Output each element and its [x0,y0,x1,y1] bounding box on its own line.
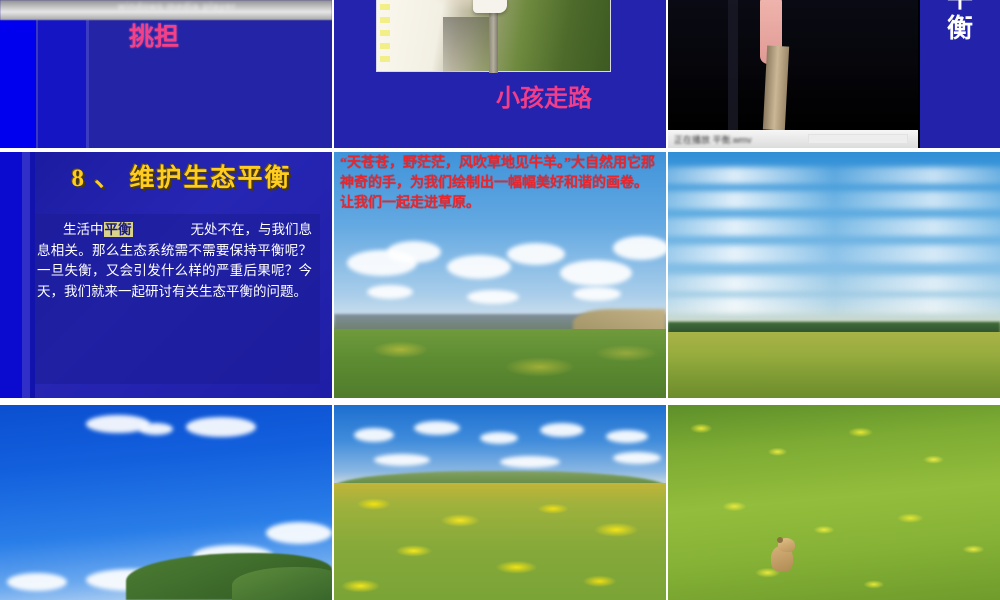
slide-thumbnail-平衡[interactable]: 正在播放 平衡.wmv 平 衡 [668,0,1000,148]
subtitle-dots-decoration [380,0,390,65]
cloud-shape [367,285,413,299]
slide-label-tiaodan: 挑担 [129,17,179,53]
cloud-shape [7,573,67,591]
grid-gutter-horizontal-2 [0,398,1000,405]
cloud-streak [668,297,1000,314]
video-control-bar[interactable]: 正在播放 平衡.wmv [668,130,918,148]
blue-band-5 [89,20,332,148]
grassland-quote-text: “天苍苍，野茫茫，风吹草地见牛羊。”大自然用它那神奇的手，为我们绘制出一幅幅美好… [340,154,660,214]
video-frame-balance[interactable] [668,0,918,130]
grid-gutter-vertical-1 [332,0,334,600]
slide-thumbnail-grassland-quote[interactable]: “天苍苍，野茫茫，风吹草地见牛羊。”大自然用它那神奇的手，为我们绘制出一幅幅美好… [334,152,666,398]
blue-band-1 [0,20,36,148]
cloud-streak [668,275,1000,292]
yellow-flower-meadow [334,483,666,600]
cloud-streak [668,167,1000,184]
body-highlight-text: 平衡 [104,222,133,237]
grid-gutter-horizontal-1 [0,148,1000,152]
slide-thumbnail-grid: windows media player 挑担 小孩走路 正在播放 平衡.wmv… [0,0,1000,600]
pika-animal [771,538,797,572]
cloud-shape [186,417,256,437]
balance-beam-decoration [763,45,789,130]
cloud-shape [613,236,666,260]
golden-field [668,332,1000,398]
cloud-shape [540,423,584,437]
cloud-streak [668,191,1000,208]
green-meadow-background [668,405,1000,600]
grid-gutter-vertical-2 [666,0,668,600]
slide-thumbnail-steppe-photo[interactable] [668,152,1000,398]
slide-thumbnail-flower-meadow[interactable] [334,405,666,600]
video-progress-track[interactable] [808,134,908,144]
path-shadow-decoration [443,17,489,73]
dark-background-decoration [728,0,738,130]
slide-label-pingheng: 平 衡 [920,0,1000,44]
cloud-streak [668,245,1000,262]
cloud-shape [507,243,565,265]
cloud-shape [560,260,632,286]
slide-label-xiaohaizoulu: 小孩走路 [414,78,666,113]
slide-thumbnail-blue-sky-mountain[interactable] [0,405,332,600]
child-foot-decoration [473,0,507,13]
cloud-shape [266,522,332,544]
cloud-shape [414,421,460,435]
video-status-text: 正在播放 平衡.wmv [674,133,752,146]
cloud-streak [668,218,1000,235]
cloud-shape [613,452,661,464]
slide-thumbnail-挑担[interactable]: windows media player 挑担 [0,0,332,148]
slide-thumbnail-小孩走路[interactable]: 小孩走路 [334,0,666,148]
slide-left-stripe-2 [22,152,30,398]
media-player-title-text: windows media player [118,2,236,13]
slide-label-char-1: 平 [920,0,1000,14]
cloud-shape [139,423,173,435]
pika-ear [777,537,783,543]
cloud-shape [467,290,519,304]
slide-left-stripe-1 [0,152,22,398]
slide-thumbnail-pika-meadow[interactable] [668,405,1000,600]
cloud-shape [374,454,430,466]
slide-title: 8 、 维护生态平衡 [35,158,328,194]
cloud-shape [500,456,560,468]
slide-label-char-2: 衡 [920,14,1000,44]
slide-body-text: 生活中平衡无处不在，与我们息息相关。那么生态系统需不需要保持平衡呢？一旦失衡，又… [35,214,320,384]
grass-foreground [334,329,666,398]
video-frame-child-walking[interactable] [376,0,611,72]
slide-thumbnail-title-ecological-balance[interactable]: 8 、 维护生态平衡 生活中平衡无处不在，与我们息息相关。那么生态系统需不需要保… [0,152,332,398]
body-lead-text: 生活中 [63,222,104,237]
blue-band-3 [38,20,86,148]
cloud-shape [387,241,441,263]
